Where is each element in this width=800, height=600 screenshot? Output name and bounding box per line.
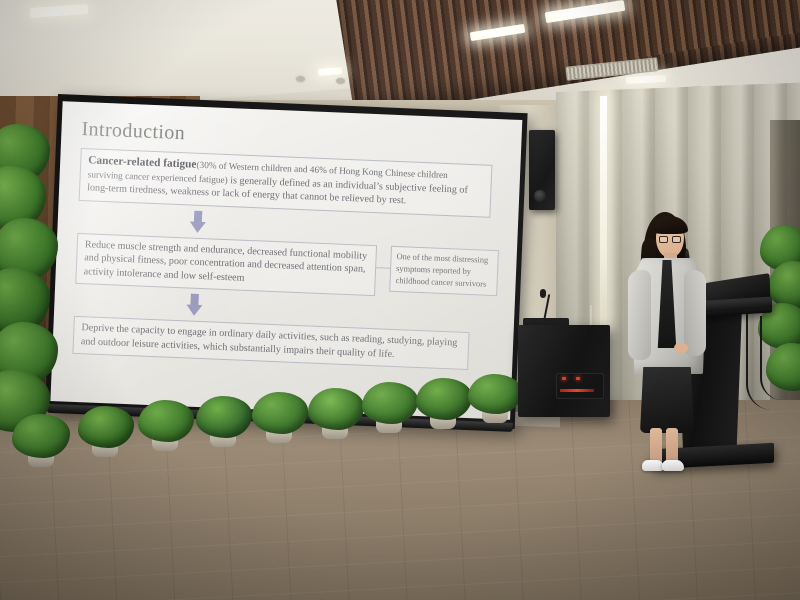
presenter-left-arm [628, 270, 651, 360]
presenter-right-arm [684, 270, 706, 356]
presentation-slide: Introduction Cancer-related fatigue(30% … [50, 101, 522, 420]
slide-middle-row: Reduce muscle strength and endurance, de… [75, 233, 499, 302]
slide-box-effects: Reduce muscle strength and endurance, de… [75, 233, 377, 297]
definition-lead: Cancer-related fatigue [88, 154, 197, 170]
status-led-icon [576, 377, 580, 380]
eyeglasses-icon [659, 236, 683, 243]
slide-box-callout: One of the most distressing symptoms rep… [389, 246, 499, 297]
av-equipment-cabinet[interactable] [518, 325, 610, 417]
box-connector-line [376, 267, 390, 269]
down-arrow-icon [186, 294, 203, 317]
wireless-antenna-icon [590, 305, 592, 327]
screen-surface: Introduction Cancer-related fatigue(30% … [50, 101, 522, 420]
presenter-fringe [652, 216, 688, 234]
ceiling-fixture-icon [296, 76, 305, 82]
power-led-icon [562, 377, 566, 380]
presenter-hand [674, 343, 688, 353]
presenter [612, 212, 722, 460]
ceiling-fixture-icon [336, 78, 345, 84]
av-indicator-strip [560, 389, 594, 392]
slide-box-consequences: Deprive the capacity to engage in ordina… [72, 316, 469, 370]
slide-box-definition: Cancer-related fatigue(30% of Western ch… [79, 148, 493, 218]
presenter-shoe [642, 460, 664, 471]
presenter-shoe [662, 460, 684, 471]
av-cable [760, 316, 782, 400]
lecture-hall-photo: Introduction Cancer-related fatigue(30% … [0, 0, 800, 600]
presenter-skirt [640, 367, 694, 433]
down-arrow-icon [189, 210, 206, 233]
tall-plant-left [0, 118, 94, 448]
wall-speaker [529, 130, 555, 210]
cabinet-microphone-head [540, 289, 546, 298]
